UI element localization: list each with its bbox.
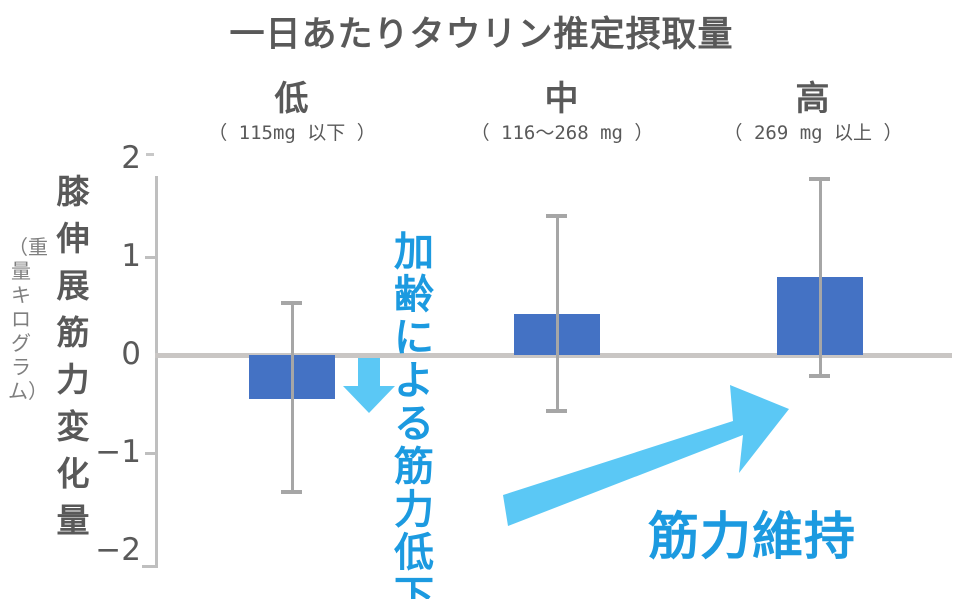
category-range-low: （ 115mg 以下 ）	[167, 120, 417, 146]
error-bar-line	[291, 303, 294, 492]
y-axis-tick-minus1	[145, 452, 156, 455]
error-bar-line	[819, 179, 822, 376]
y-axis-title: 膝伸展筋力 変化量	[46, 168, 100, 544]
y-axis-top-tick	[146, 153, 154, 156]
category-header-mid: 中 （ 116〜268 mg ）	[437, 78, 687, 146]
chart-canvas: 一日あたりタウリン推定摂取量 低 （ 115mg 以下 ） 中 （ 116〜26…	[0, 0, 963, 599]
category-range-mid: （ 116〜268 mg ）	[437, 120, 687, 146]
maintain-annotation: 筋力維持	[648, 509, 856, 565]
y-tick-label: 1	[95, 241, 141, 272]
y-tick-label: 0	[95, 339, 141, 370]
chart-title: 一日あたりタウリン推定摂取量	[0, 6, 963, 57]
y-axis-line	[155, 176, 158, 568]
y-tick-label: −1	[95, 437, 141, 468]
error-bar-cap-lower	[281, 490, 302, 494]
category-header-high: 高 （ 269 mg 以上 ）	[688, 78, 938, 146]
category-header-low: 低 （ 115mg 以下 ）	[167, 78, 417, 146]
y-tick-label: −2	[95, 535, 141, 566]
error-bar-cap-upper	[546, 214, 567, 218]
category-label-low: 低	[167, 78, 417, 120]
error-bar-line	[556, 216, 559, 411]
category-range-high: （ 269 mg 以上 ）	[688, 120, 938, 146]
decline-annotation: 加齢による筋力低下	[385, 231, 443, 599]
y-axis-tick-1	[145, 256, 156, 259]
error-bar-cap-lower	[809, 374, 830, 378]
error-bar-cap-upper	[809, 177, 830, 181]
error-bar-cap-upper	[281, 301, 302, 305]
category-label-mid: 中	[437, 78, 687, 120]
category-label-high: 高	[688, 78, 938, 120]
y-axis-tick-minus2	[142, 565, 156, 568]
y-axis-unit-label: （重量キログラム）	[8, 236, 34, 404]
y-axis-tick-labels: 210−1−2	[95, 0, 141, 599]
y-tick-label: 2	[95, 143, 141, 174]
